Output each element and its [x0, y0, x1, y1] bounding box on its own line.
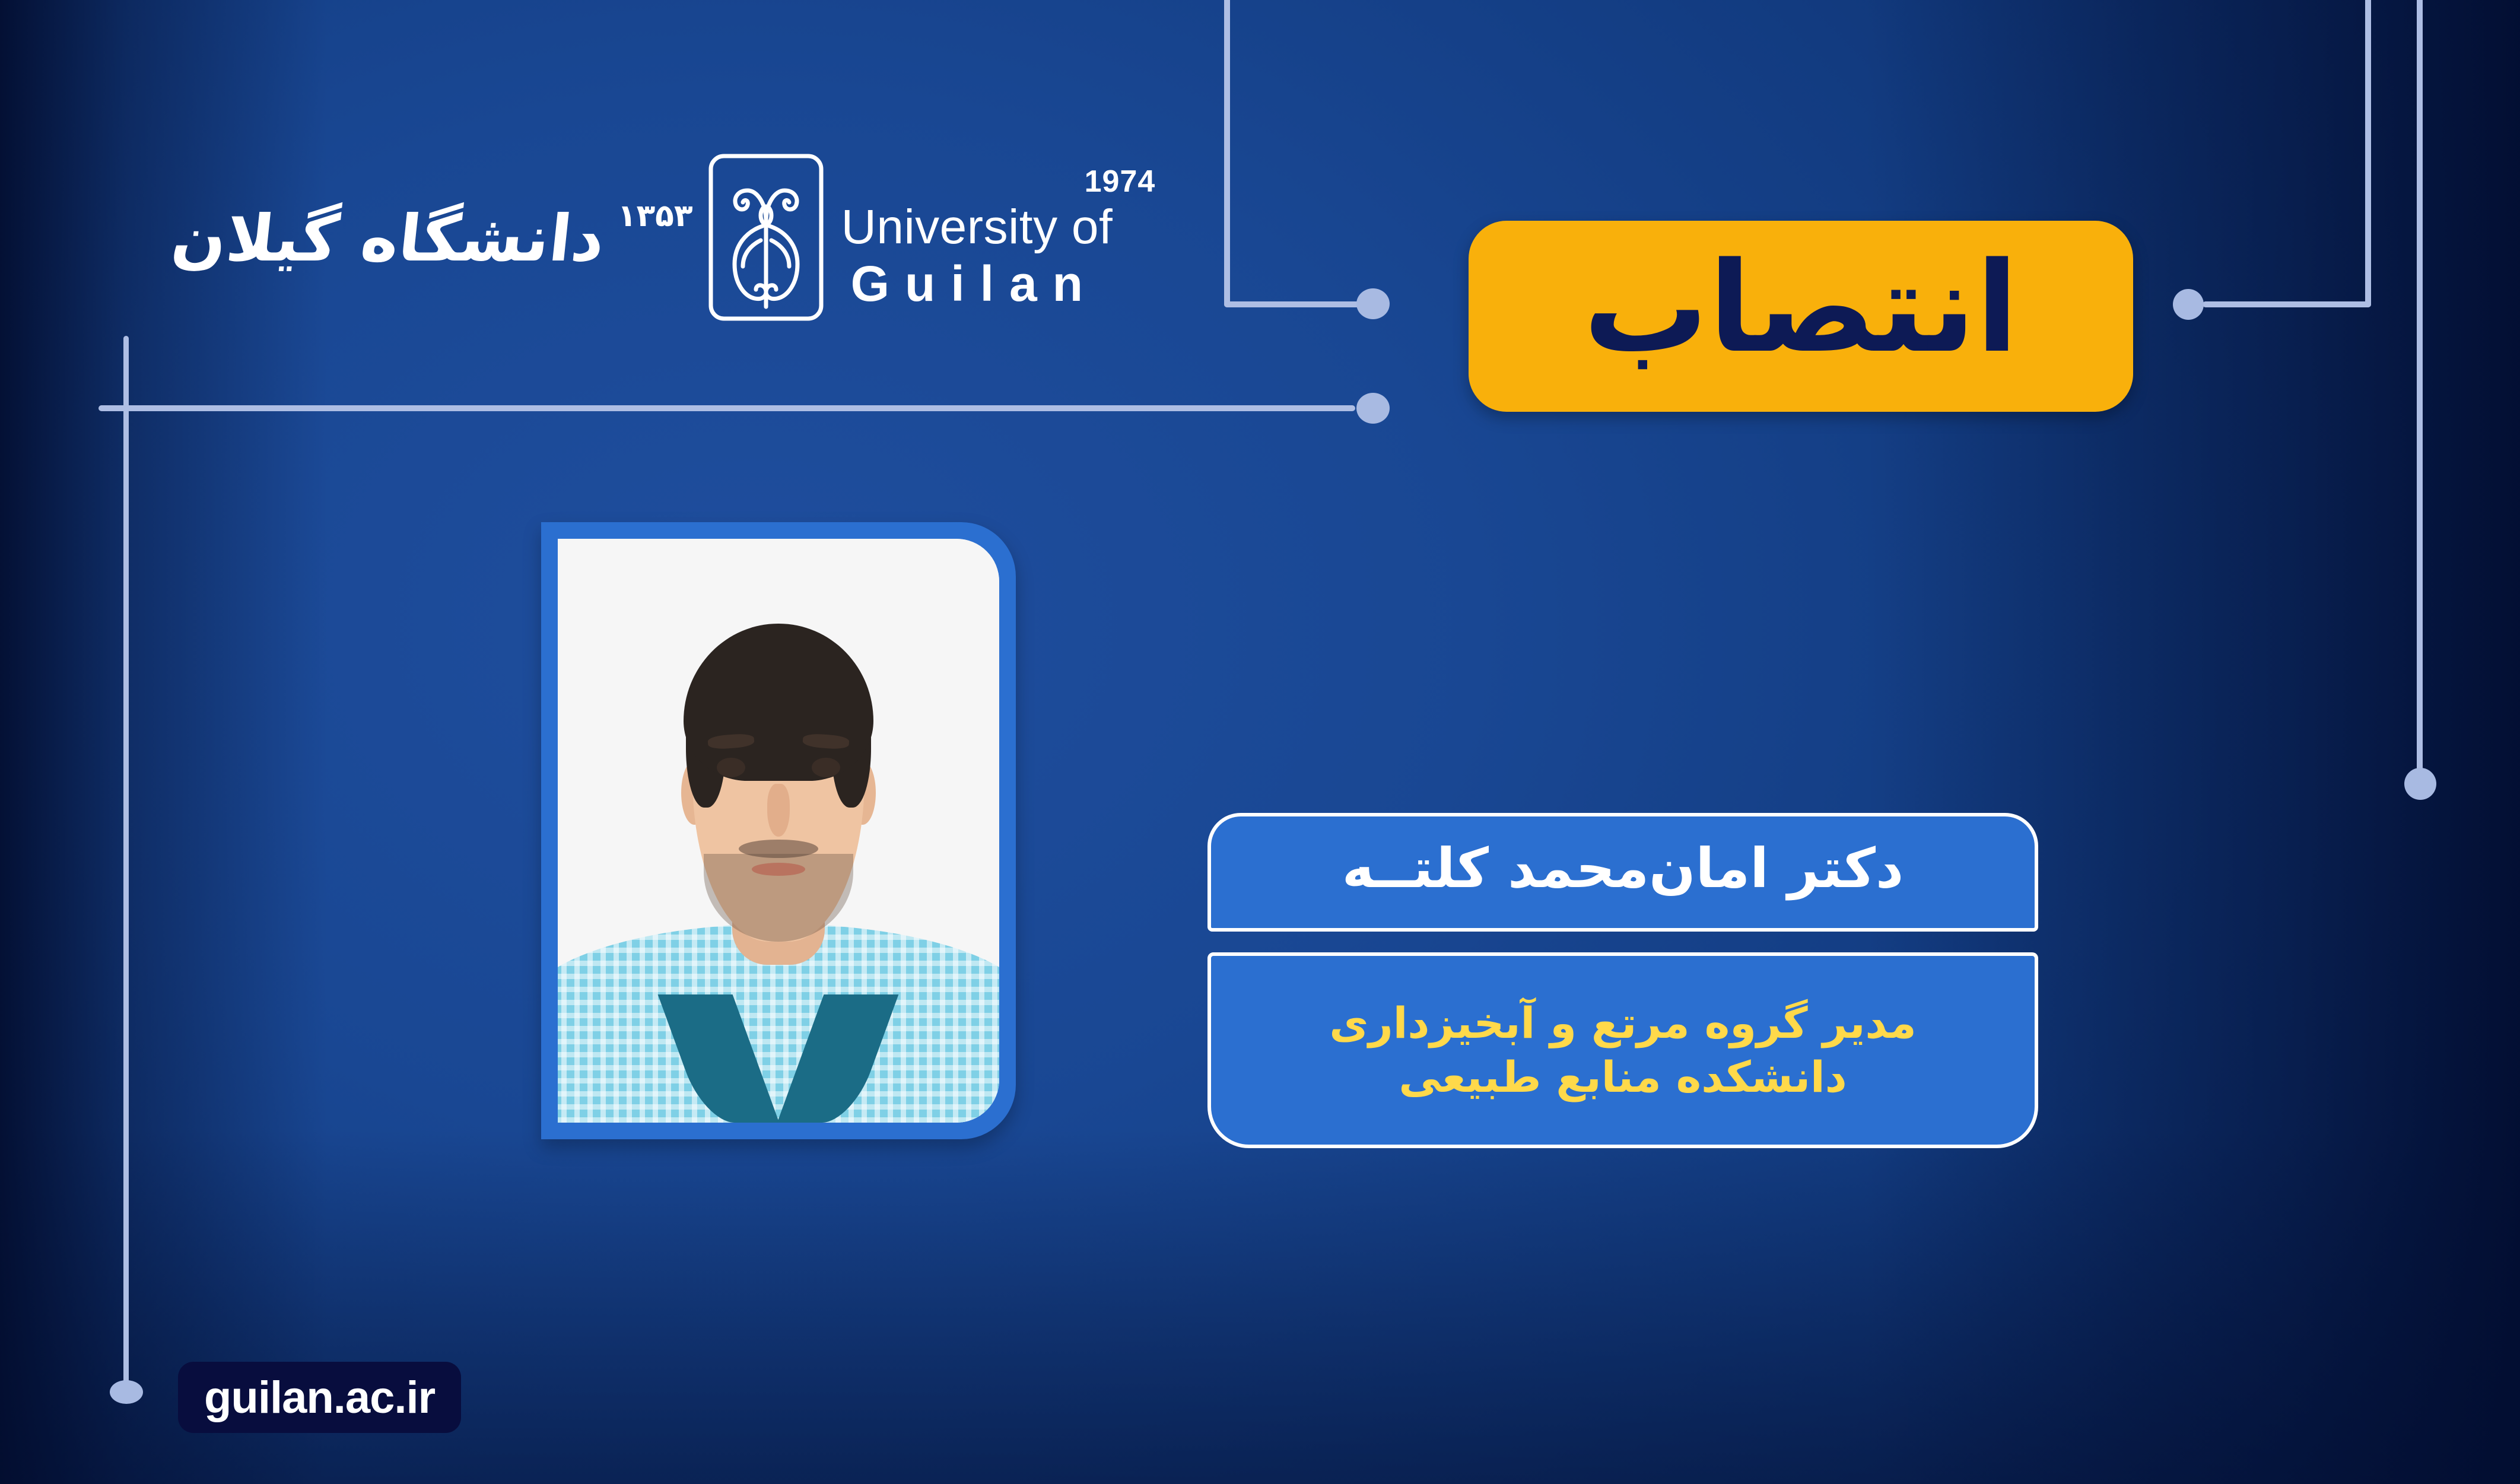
decor-dot-right-upper: [2173, 289, 2204, 320]
decor-dot-center-upper: [1356, 288, 1390, 319]
guilan-university-butterfly-emblem-icon: [704, 151, 828, 323]
portrait-nose: [767, 784, 789, 837]
decor-line-mid-horizontal: [1224, 301, 1361, 307]
decor-line-mid-vertical: [1224, 0, 1230, 307]
appointment-title-badge: انتصاب: [1469, 221, 2133, 412]
website-label: guilan.ac.ir: [204, 1372, 435, 1423]
person-name-label: دکتر امان‌محمد کلتــه: [1342, 841, 1904, 896]
decor-dot-right-lower: [2404, 768, 2436, 800]
decor-dot-center-lower: [1356, 393, 1390, 424]
appointment-title-label: انتصاب: [1583, 246, 2018, 370]
person-name-badge: دکتر امان‌محمد کلتــه: [1207, 813, 2038, 932]
person-role-line-1: مدیر گروه مرتع و آبخیزداری: [1329, 998, 1916, 1048]
university-logo: 1974 University of Guilan ۱۳۵۳دانشگاه گی…: [172, 148, 1216, 326]
poster-canvas: 1974 University of Guilan ۱۳۵۳دانشگاه گی…: [0, 0, 2520, 1484]
decor-line-right-elbow-vertical: [2365, 0, 2371, 307]
logo-persian-text: ۱۳۵۳دانشگاه گیلان: [168, 199, 694, 276]
decor-line-far-right-vertical: [2417, 0, 2423, 771]
decor-line-left-vertical: [123, 336, 129, 1385]
logo-university-of: University of: [841, 203, 1156, 252]
logo-english-text: 1974 University of Guilan: [841, 166, 1156, 309]
person-role-line-2: دانشکده منابع طبیعی: [1399, 1052, 1847, 1102]
decor-line-right-elbow-horizontal: [2203, 301, 2371, 307]
logo-founded-year-fa: ۱۳۵۳: [617, 199, 692, 234]
logo-founded-year-en: 1974: [1085, 166, 1156, 197]
person-role-badge: مدیر گروه مرتع و آبخیزداری دانشکده منابع…: [1207, 952, 2038, 1148]
portrait-photo: [558, 539, 999, 1123]
decor-line-left-horizontal: [98, 405, 1355, 411]
portrait-photo-frame: [541, 522, 1016, 1139]
logo-university-name-fa: دانشگاه گیلان: [168, 202, 608, 276]
portrait-moustache: [739, 840, 818, 858]
website-badge[interactable]: guilan.ac.ir: [178, 1362, 461, 1433]
logo-guilan: Guilan: [851, 259, 1156, 309]
decor-dot-left-bottom: [110, 1380, 143, 1404]
portrait-mouth: [752, 863, 805, 876]
